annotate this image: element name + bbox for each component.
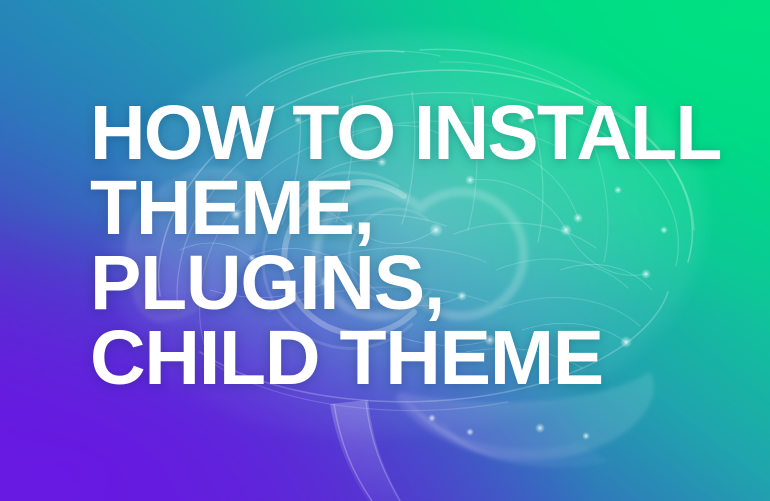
headline-line-1: HOW TO INSTALL [90, 96, 730, 171]
headline-line-3: PLUGINS, [90, 246, 730, 321]
headline-block: HOW TO INSTALL THEME, PLUGINS, CHILD THE… [90, 96, 730, 396]
featured-image-banner: HOW TO INSTALL THEME, PLUGINS, CHILD THE… [0, 0, 770, 501]
headline-line-2: THEME, [90, 171, 730, 246]
headline-line-4: CHILD THEME [90, 321, 730, 396]
